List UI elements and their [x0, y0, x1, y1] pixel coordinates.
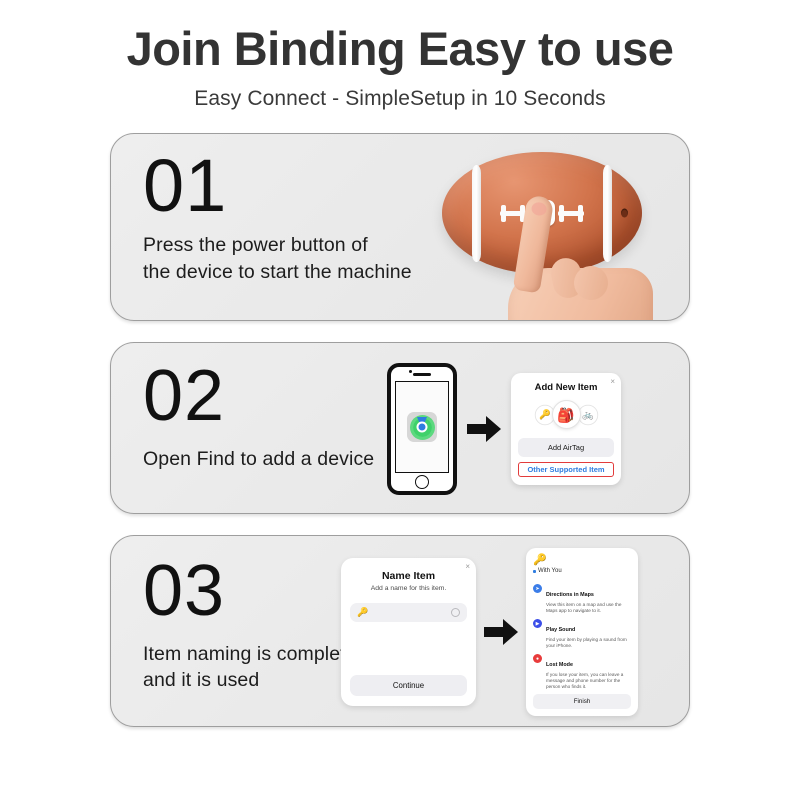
step-1-number: 01: [143, 152, 412, 220]
step-2-illustration: × Add New Item 🔑 🎒 🚲 Add AirTag Other Su…: [381, 357, 681, 501]
step-2-description: Open Find to add a device: [143, 446, 374, 472]
directions-icon: ➤: [533, 584, 542, 593]
option-title: Directions in Maps: [546, 592, 594, 598]
item-status: With You: [533, 568, 631, 574]
iphone-mockup: [387, 363, 457, 495]
step-3-text: 03 Item naming is completed and it is us…: [143, 558, 368, 692]
steps-list: 01 Press the power button of the device …: [0, 133, 800, 727]
list-item[interactable]: ▶ Play Sound Find your item by playing a…: [533, 618, 631, 649]
list-item[interactable]: ➤ Directions in Maps View this item on a…: [533, 583, 631, 614]
step-card-03: 03 Item naming is completed and it is us…: [110, 535, 690, 727]
option-description: If you lose your item, you can leave a m…: [546, 672, 631, 690]
page-title: Join Binding Easy to use: [0, 24, 800, 73]
arrow-right-icon: [467, 416, 501, 442]
play-sound-icon: ▶: [533, 619, 542, 628]
close-icon[interactable]: ×: [465, 562, 470, 571]
football-stripe-left: [472, 165, 481, 263]
find-my-app-icon[interactable]: [407, 412, 437, 442]
phone-screen: [395, 381, 449, 473]
step-3-description: Item naming is completed and it is used: [143, 641, 368, 693]
clear-circle-icon[interactable]: [451, 608, 460, 617]
option-description: Find your item by playing a sound from y…: [546, 637, 631, 649]
add-new-item-dialog: × Add New Item 🔑 🎒 🚲 Add AirTag Other Su…: [511, 373, 621, 485]
name-item-subtitle: Add a name for this item.: [350, 585, 467, 592]
step-2-text: 02 Open Find to add a device: [143, 363, 374, 471]
name-item-dialog: × Name Item Add a name for this item. 🔑 …: [341, 558, 476, 706]
close-icon[interactable]: ×: [610, 377, 615, 386]
page-subtitle: Easy Connect - SimpleSetup in 10 Seconds: [0, 87, 800, 111]
lost-mode-icon: ●: [533, 654, 542, 663]
backpack-icon: 🎒: [552, 400, 581, 429]
step-3-illustration: × Name Item Add a name for this item. 🔑 …: [341, 546, 681, 718]
add-airtag-button[interactable]: Add AirTag: [518, 438, 614, 457]
step-1-description: Press the power button of the device to …: [143, 232, 412, 284]
option-title: Lost Mode: [546, 662, 573, 668]
pointing-hand-icon: [506, 196, 656, 321]
step-2-number: 02: [143, 363, 374, 429]
step-1-illustration: [428, 134, 683, 320]
item-detail-card: 🔑 With You 500 km ➤ Direction: [526, 548, 638, 716]
key-icon: 🔑: [533, 555, 631, 566]
step-1-text: 01 Press the power button of the device …: [143, 152, 412, 284]
step-card-01: 01 Press the power button of the device …: [110, 133, 690, 321]
dialog-title: Add New Item: [518, 382, 614, 393]
other-supported-item-highlight: Other Supported Item: [518, 462, 614, 477]
page-header: Join Binding Easy to use Easy Connect - …: [0, 0, 800, 111]
continue-button[interactable]: Continue: [350, 675, 467, 696]
item-name-input[interactable]: 🔑: [350, 603, 467, 622]
finish-button[interactable]: Finish: [533, 694, 631, 709]
step-card-02: 02 Open Find to add a device × Add New I…: [110, 342, 690, 514]
arrow-right-icon: [484, 619, 518, 645]
status-dot-icon: [533, 570, 536, 573]
phone-camera-icon: [409, 370, 412, 373]
item-actions-list: ➤ Directions in Maps View this item on a…: [533, 583, 631, 694]
item-status-label: With You: [538, 568, 562, 574]
option-description: View this item on a map and use the Maps…: [546, 602, 631, 614]
key-icon: 🔑: [357, 607, 368, 618]
find-my-radar-icon: [410, 415, 435, 440]
step-3-number: 03: [143, 558, 368, 624]
phone-speaker: [413, 373, 431, 376]
phone-home-button[interactable]: [415, 475, 429, 489]
option-title: Play Sound: [546, 627, 575, 633]
item-type-badges: 🔑 🎒 🚲: [518, 400, 614, 429]
name-item-title: Name Item: [350, 570, 467, 582]
other-supported-item-link[interactable]: Other Supported Item: [519, 465, 613, 474]
list-item[interactable]: ● Lost Mode If you lose your item, you c…: [533, 653, 631, 690]
